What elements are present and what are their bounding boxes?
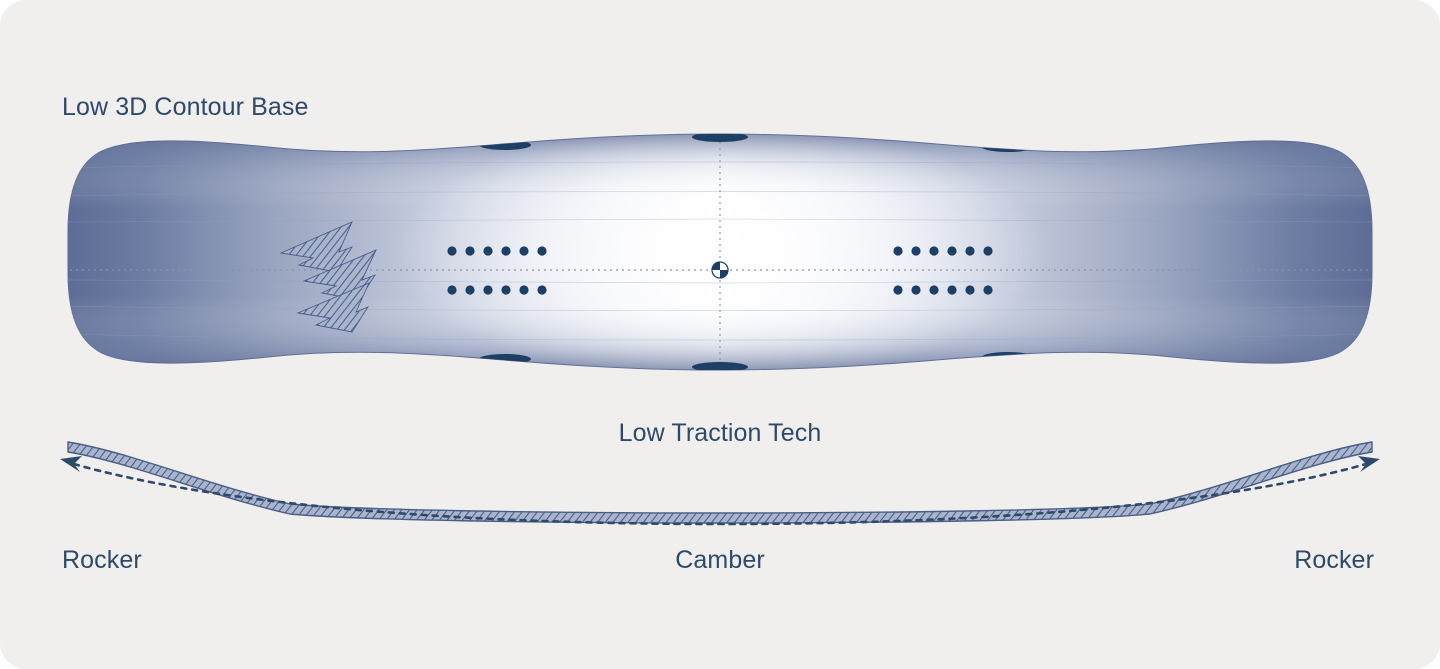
label-camber: Camber: [0, 546, 1440, 575]
diagram-card: Low 3D Contour Base Low Traction Tech Ro…: [0, 0, 1440, 669]
arrow-right-icon: [1358, 456, 1380, 472]
center-reference-marker: [712, 262, 728, 278]
profile-band: [68, 442, 1372, 523]
label-low-traction-tech: Low Traction Tech: [0, 419, 1440, 448]
snowboard-base-view: [60, 122, 1380, 382]
camber-rocker-profile: [60, 442, 1380, 524]
label-rocker-right: Rocker: [1294, 546, 1374, 575]
label-low-3d-contour-base: Low 3D Contour Base: [62, 93, 308, 122]
